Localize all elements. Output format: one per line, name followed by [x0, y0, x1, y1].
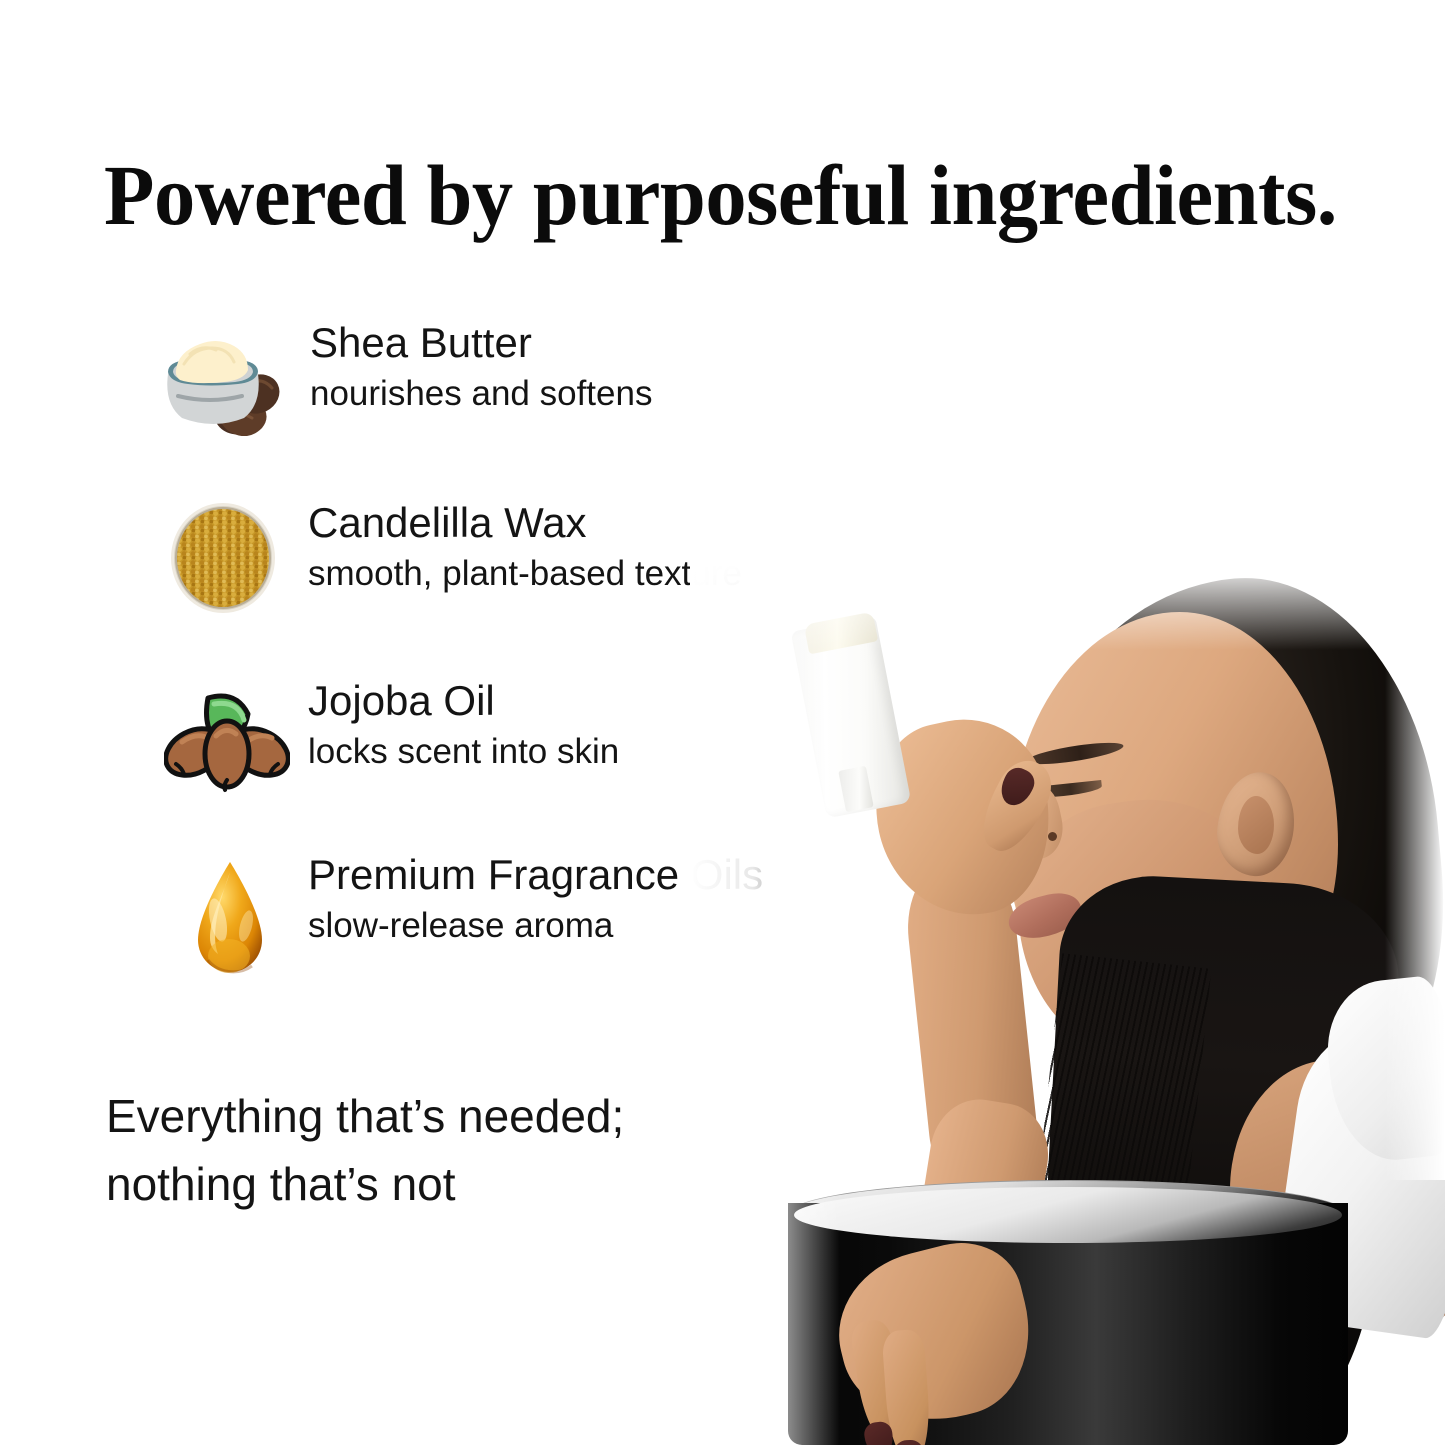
ingredient-text: Shea Butter nourishes and softens [310, 316, 652, 418]
product-ingredients-panel: Powered by purposeful ingredients. [0, 0, 1445, 1445]
ingredient-text: Candelilla Wax smooth, plant-based textu… [308, 496, 742, 598]
pedestal-top-surface [794, 1187, 1342, 1243]
list-item: Shea Butter nourishes and softens [150, 318, 950, 498]
ear-inner [1238, 796, 1274, 854]
ingredient-description: nourishes and softens [310, 370, 652, 418]
ingredient-text: Jojoba Oil locks scent into skin [308, 674, 619, 776]
jojoba-seeds-icon [164, 684, 290, 794]
page-title: Powered by purposeful ingredients. [104, 152, 1342, 238]
nose-stud [1048, 832, 1057, 841]
shea-butter-bowl-icon [154, 326, 286, 436]
ingredient-name: Candelilla Wax [308, 496, 742, 550]
tagline: Everything that’s needed; nothing that’s… [106, 1082, 624, 1218]
ingredient-description: smooth, plant-based texture [308, 550, 742, 598]
ingredient-description: locks scent into skin [308, 728, 619, 776]
product-lifestyle-photo [690, 560, 1445, 1445]
ingredient-name: Shea Butter [310, 316, 652, 370]
fragrance-oil-droplet-icon [180, 860, 280, 986]
ingredient-name: Jojoba Oil [308, 674, 619, 728]
candelilla-wax-granules-icon [168, 502, 278, 614]
